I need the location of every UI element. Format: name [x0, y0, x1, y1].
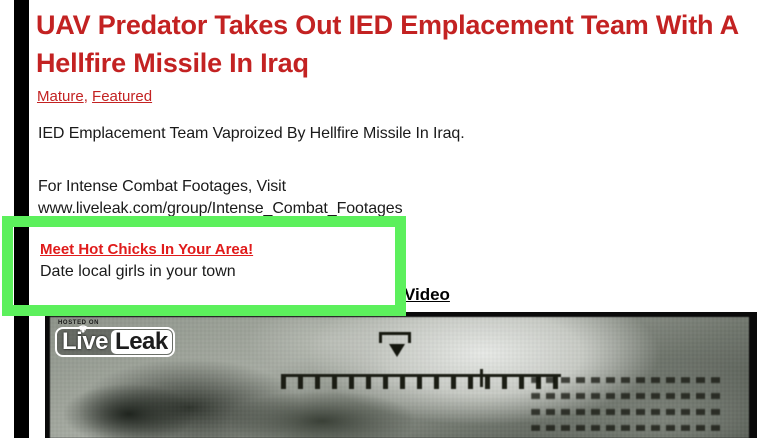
liveleak-logo: Live Leak — [55, 327, 175, 357]
ad-subtitle: Date local girls in your town — [40, 263, 236, 281]
page-left-gutter-bar — [14, 0, 29, 438]
video-player[interactable]: HOSTED ON Live Leak — [45, 312, 757, 438]
page-right-margin — [757, 312, 768, 438]
video-terrain-shadow-center — [232, 392, 412, 438]
ad-headline-link[interactable]: Meet Hot Chicks In Your Area! — [40, 241, 253, 258]
article-description: IED Emplacement Team Vaproized By Hellfi… — [38, 125, 465, 143]
page-left-margin — [0, 0, 14, 438]
article-cta-url[interactable]: www.liveleak.com/group/Intense_Combat_Fo… — [38, 200, 403, 218]
tag-separator: , — [84, 88, 92, 105]
hud-scale-tick — [480, 369, 483, 387]
article-tags: Mature, Featured — [37, 88, 152, 105]
video-terrain-shadow-left — [64, 384, 194, 438]
tag-link-mature[interactable]: Mature — [37, 88, 84, 105]
hud-target-bracket — [379, 332, 411, 343]
tag-link-featured[interactable]: Featured — [92, 88, 152, 105]
ad-banner-gutter-bar — [14, 227, 29, 305]
page-root: UAV Predator Takes Out IED Emplacement T… — [0, 0, 768, 438]
hud-scale-bar — [281, 374, 561, 389]
hud-target-caret-icon — [389, 344, 405, 357]
watermark-leak-text: Leak — [111, 330, 172, 354]
liveleak-watermark: HOSTED ON Live Leak — [55, 320, 175, 357]
hud-telemetry-text — [531, 377, 721, 431]
page-title: UAV Predator Takes Out IED Emplacement T… — [36, 6, 768, 82]
article-cta-line: For Intense Combat Footages, Visit — [38, 178, 286, 196]
watermark-live-text: Live — [58, 330, 111, 354]
